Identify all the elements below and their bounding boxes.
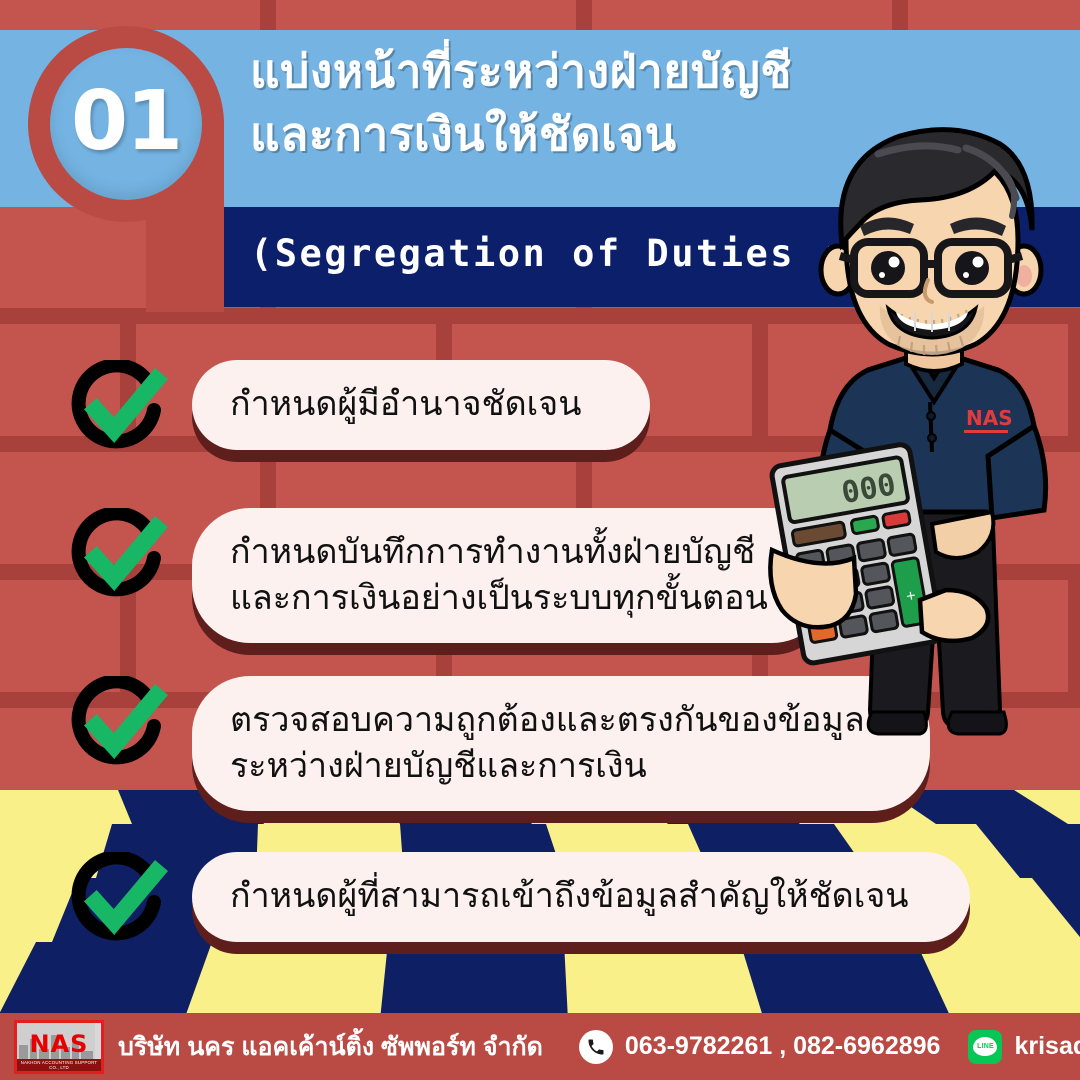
bullet-item-4[interactable]: กำหนดผู้ที่สามารถเข้าถึงข้อมูลสำคัญให้ชั… <box>70 852 970 952</box>
check-circle-icon <box>70 360 170 460</box>
bullet-item-1[interactable]: กำหนดผู้มีอำนาจชัดเจน <box>70 360 650 460</box>
nas-company-logo: NAS NAKHON ACCOUNTING SUPPORT CO., LTD <box>14 1020 104 1074</box>
check-circle-icon <box>70 852 170 952</box>
footer-bar: NAS NAKHON ACCOUNTING SUPPORT CO., LTD บ… <box>0 1013 1080 1080</box>
line-icon-label: LINE <box>977 1043 994 1050</box>
mascot-right-hand <box>920 590 988 641</box>
badge-number-text: 01 <box>71 81 181 163</box>
bullet-pill-1[interactable]: กำหนดผู้มีอำนาจชัดเจน <box>192 360 650 450</box>
step-number-badge: 01 <box>28 26 228 226</box>
bullet-text-1: กำหนดผู้มีอำนาจชัดเจน <box>230 382 581 428</box>
mascot-left-hand <box>770 550 856 627</box>
bullet-text-2: กำหนดบันทึกการทำงานทั้งฝ่ายบัญชี และการเ… <box>230 530 768 621</box>
bullet-pill-4[interactable]: กำหนดผู้ที่สามารถเข้าถึงข้อมูลสำคัญให้ชั… <box>192 852 970 942</box>
phone-contact-group[interactable]: 063-9782261 , 082-6962896 <box>579 1030 941 1064</box>
phone-numbers: 063-9782261 , 082-6962896 <box>625 1032 941 1061</box>
nas-logo-text: NAS <box>30 1032 89 1056</box>
title-line-1: แบ่งหน้าที่ระหว่างฝ่ายบัญชี <box>250 40 910 103</box>
mascot-shirt-logo-text: NAS <box>966 406 1013 430</box>
badge-inner-circle: 01 <box>50 48 202 200</box>
check-circle-icon <box>70 676 170 776</box>
check-circle-icon <box>70 508 170 608</box>
company-name: บริษัท นคร แอคเค้าน์ติ้ง ซัพพอร์ท จำกัด <box>118 1027 543 1067</box>
phone-icon <box>579 1030 613 1064</box>
mascot-accountant-illustration: NAS <box>760 120 1080 740</box>
line-id: krisadith, krisadithtk <box>1014 1032 1080 1061</box>
bullet-text-4: กำหนดผู้ที่สามารถเข้าถึงข้อมูลสำคัญให้ชั… <box>230 874 909 920</box>
bullet-item-2[interactable]: กำหนดบันทึกการทำงานทั้งฝ่ายบัญชี และการเ… <box>70 508 830 643</box>
nas-logo-subtext: NAKHON ACCOUNTING SUPPORT CO., LTD <box>17 1059 101 1071</box>
line-icon: LINE <box>968 1030 1002 1064</box>
bullet-pill-2[interactable]: กำหนดบันทึกการทำงานทั้งฝ่ายบัญชี และการเ… <box>192 508 830 643</box>
infographic-canvas: 01 แบ่งหน้าที่ระหว่างฝ่ายบัญชี และการเงิ… <box>0 0 1080 1080</box>
line-contact-group[interactable]: LINE krisadith, krisadithtk <box>968 1030 1080 1064</box>
